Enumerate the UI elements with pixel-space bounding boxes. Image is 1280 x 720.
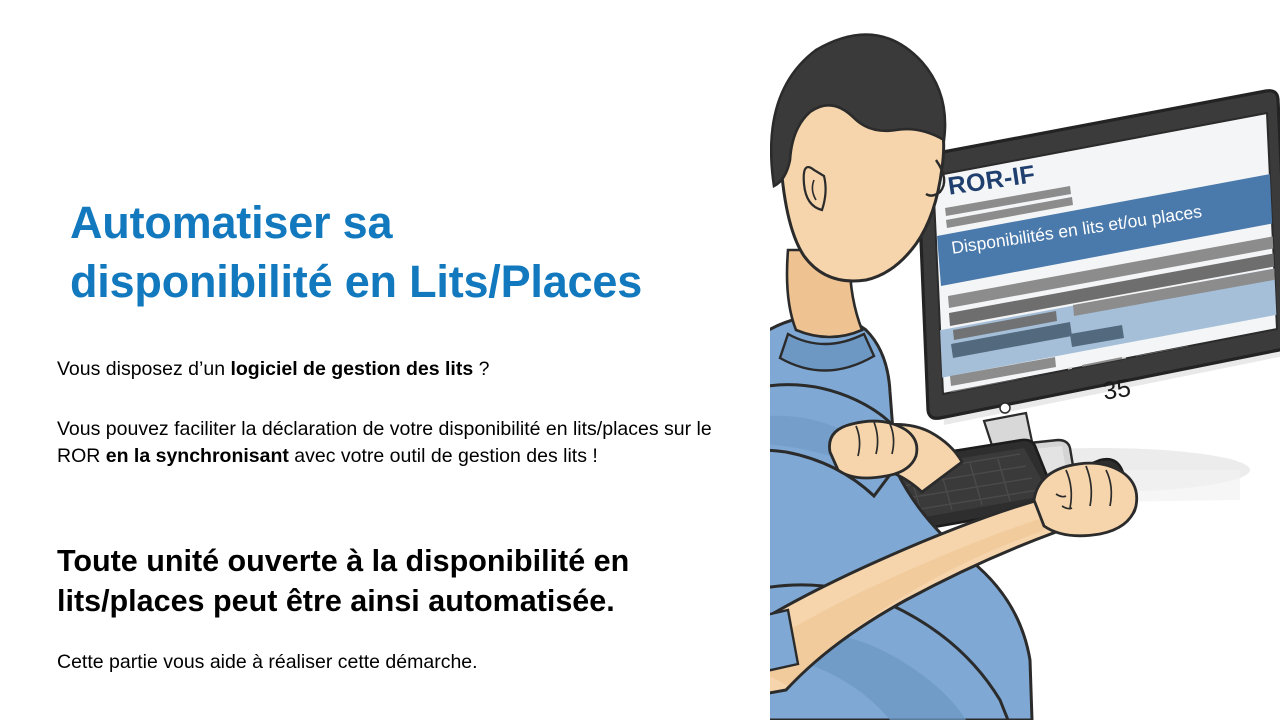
paragraph-question-suffix: ?: [473, 358, 489, 380]
text-column: Automatiser sa disponibilité en Lits/Pla…: [0, 0, 770, 720]
paragraph-closing: Cette partie vous aide à réaliser cette …: [57, 649, 737, 677]
paragraph-question-emphasis: logiciel de gestion des lits: [230, 358, 473, 380]
person-hand-right: [1034, 463, 1137, 536]
paragraph-key-message-line-1: Toute unité ouverte à la disponibilité e…: [57, 541, 757, 581]
slide-canvas: Automatiser sa disponibilité en Lits/Pla…: [0, 0, 1280, 720]
paragraph-key-message: Toute unité ouverte à la disponibilité e…: [57, 541, 757, 622]
paragraph-explanation-part-2: avec votre outil de gestion des lits !: [289, 445, 598, 467]
page-title-line-2: disponibilité en Lits/Places: [70, 253, 740, 312]
paragraph-explanation: Vous pouvez faciliter la déclaration de …: [57, 416, 712, 471]
illustration-healthcare-worker-at-computer: ROR-IF Disponibilités en lits et/ou plac…: [770, 0, 1280, 720]
page-title-line-1: Automatiser sa: [70, 194, 740, 253]
paragraph-explanation-emphasis: en la synchronisant: [106, 445, 289, 467]
page-title: Automatiser sa disponibilité en Lits/Pla…: [70, 194, 740, 311]
illustration-svg: [770, 0, 1280, 720]
paragraph-question: Vous disposez d’un logiciel de gestion d…: [57, 356, 737, 384]
paragraph-question-prefix: Vous disposez d’un: [57, 358, 230, 380]
webcam-dot: [1000, 403, 1010, 413]
person-hand-left: [829, 421, 916, 478]
monitor: [897, 91, 1280, 503]
paragraph-key-message-line-2: lits/places peut être ainsi automatisée.: [57, 581, 757, 621]
